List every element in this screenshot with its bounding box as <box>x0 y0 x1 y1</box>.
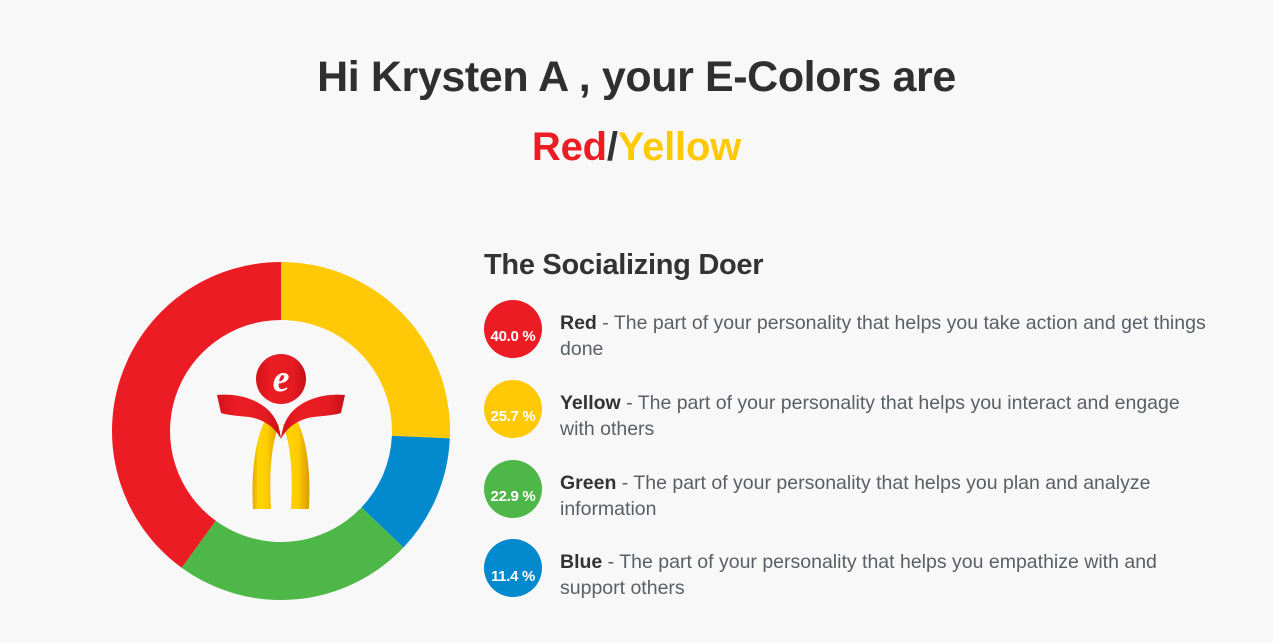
page-title: Hi Krysten A , your E-Colors are <box>0 52 1273 103</box>
percentage-badge: 11.4 % <box>484 539 542 597</box>
color-pair-separator: / <box>607 125 618 169</box>
legend-color-name: Blue <box>560 551 602 573</box>
secondary-color-label: Yellow <box>618 125 741 169</box>
percentage-value: 25.7 % <box>491 409 536 424</box>
legend-description-text: The part of your personality that helps … <box>560 472 1150 520</box>
legend-row: 11.4 %Blue - The part of your personalit… <box>484 539 1214 602</box>
legend-description-text: The part of your personality that helps … <box>560 392 1180 440</box>
logo-left-leg <box>253 417 279 509</box>
legend-row: 22.9 %Green - The part of your personali… <box>484 460 1214 523</box>
legend-dash: - <box>602 551 619 573</box>
legend-description: Green - The part of your personality tha… <box>560 460 1214 523</box>
legend-description: Blue - The part of your personality that… <box>560 539 1214 602</box>
percentage-value: 11.4 % <box>491 569 535 584</box>
legend-description-text: The part of your personality that helps … <box>560 551 1157 599</box>
percentage-badge: 25.7 % <box>484 380 542 438</box>
percentage-badge: 40.0 % <box>484 300 542 358</box>
ecolors-legend-list: 40.0 %Red - The part of your personality… <box>484 300 1214 602</box>
ecolors-donut-chart: e <box>112 262 450 600</box>
legend-color-name: Green <box>560 472 616 494</box>
ecolors-result-page: Hi Krysten A , your E-Colors are Red/Yel… <box>0 0 1273 643</box>
profile-type-title: The Socializing Doer <box>484 250 1214 282</box>
ecolors-pair: Red/Yellow <box>0 125 1273 169</box>
percentage-value: 22.9 % <box>491 489 536 504</box>
legend-row: 25.7 %Yellow - The part of your personal… <box>484 380 1214 443</box>
ecolors-logo-icon: e <box>215 351 347 511</box>
page-header: Hi Krysten A , your E-Colors are Red/Yel… <box>0 52 1273 169</box>
legend-dash: - <box>621 392 638 414</box>
legend-description: Red - The part of your personality that … <box>560 300 1214 363</box>
logo-right-leg <box>283 417 309 509</box>
legend-dash: - <box>616 472 633 494</box>
logo-e-glyph: e <box>273 358 290 400</box>
legend-description: Yellow - The part of your personality th… <box>560 380 1214 443</box>
result-body: e The Socializing Doer 40.0 %Red - The p… <box>0 250 1273 643</box>
legend-color-name: Yellow <box>560 392 621 414</box>
legend-color-name: Red <box>560 312 597 334</box>
legend-row: 40.0 %Red - The part of your personality… <box>484 300 1214 363</box>
legend-dash: - <box>597 312 614 334</box>
ecolors-logo: e <box>215 351 347 511</box>
percentage-value: 40.0 % <box>491 329 536 344</box>
percentage-badge: 22.9 % <box>484 460 542 518</box>
legend-description-text: The part of your personality that helps … <box>560 312 1206 360</box>
primary-color-label: Red <box>532 125 607 169</box>
ecolors-detail-panel: The Socializing Doer 40.0 %Red - The par… <box>484 250 1214 602</box>
